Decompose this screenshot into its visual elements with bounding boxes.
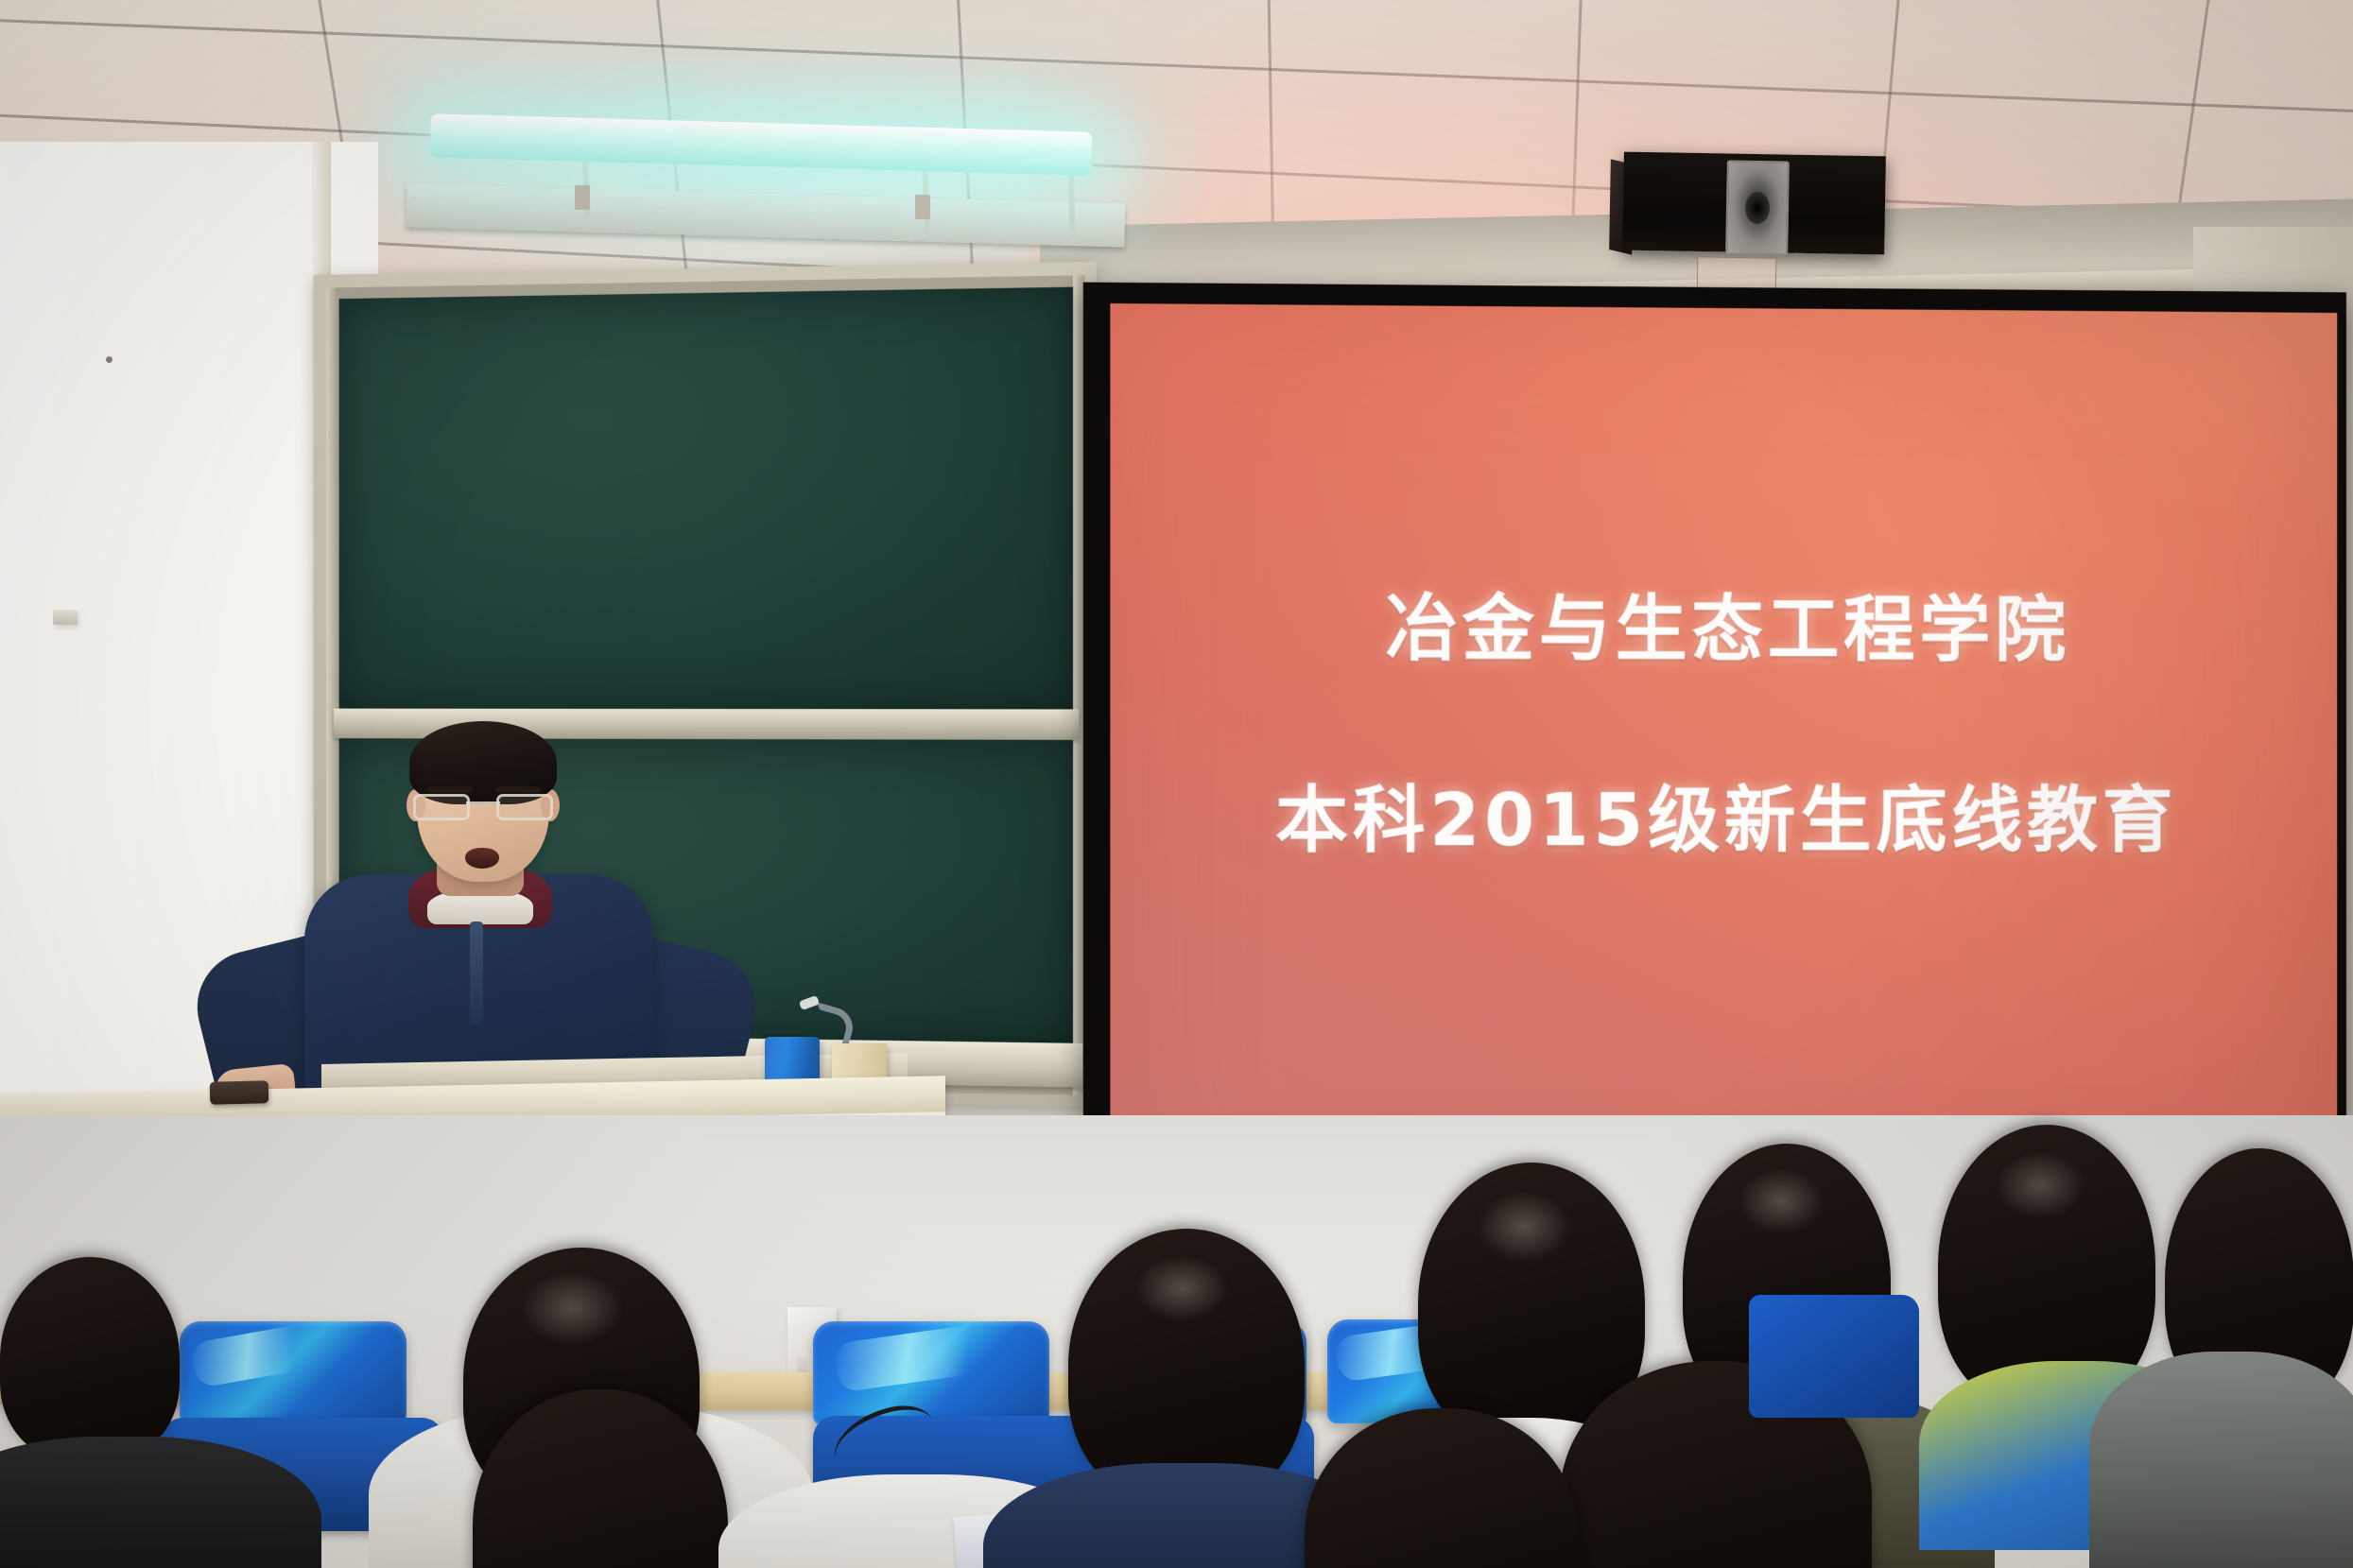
blackboard-upper-panel	[339, 287, 1073, 710]
chair-left-1[interactable]	[180, 1321, 407, 1423]
wall-bracket	[53, 610, 78, 625]
projector-lens-icon	[1725, 160, 1790, 255]
blackboard-eraser	[210, 1080, 269, 1105]
student-head-left-1	[0, 1257, 180, 1460]
classroom-photo: 冶金与生态工程学院 本科2015级新生底线教育	[0, 0, 2353, 1568]
student-shoulders-right-4	[2089, 1352, 2353, 1568]
speaker-mouth	[465, 848, 499, 869]
slide-title-line-2: 本科2015级新生底线教育	[1110, 762, 2337, 867]
wall-nail	[106, 356, 112, 363]
slide-surface: 冶金与生态工程学院 本科2015级新生底线教育	[1110, 303, 2337, 1238]
speaker-zipper	[470, 922, 483, 1025]
student-head-center-right	[1068, 1229, 1305, 1503]
blue-bag	[1749, 1295, 1919, 1418]
slide-title-line-1: 冶金与生态工程学院	[1110, 569, 2337, 677]
speaker-glasses-icon	[413, 794, 553, 815]
chair-far-1[interactable]	[813, 1321, 1049, 1425]
